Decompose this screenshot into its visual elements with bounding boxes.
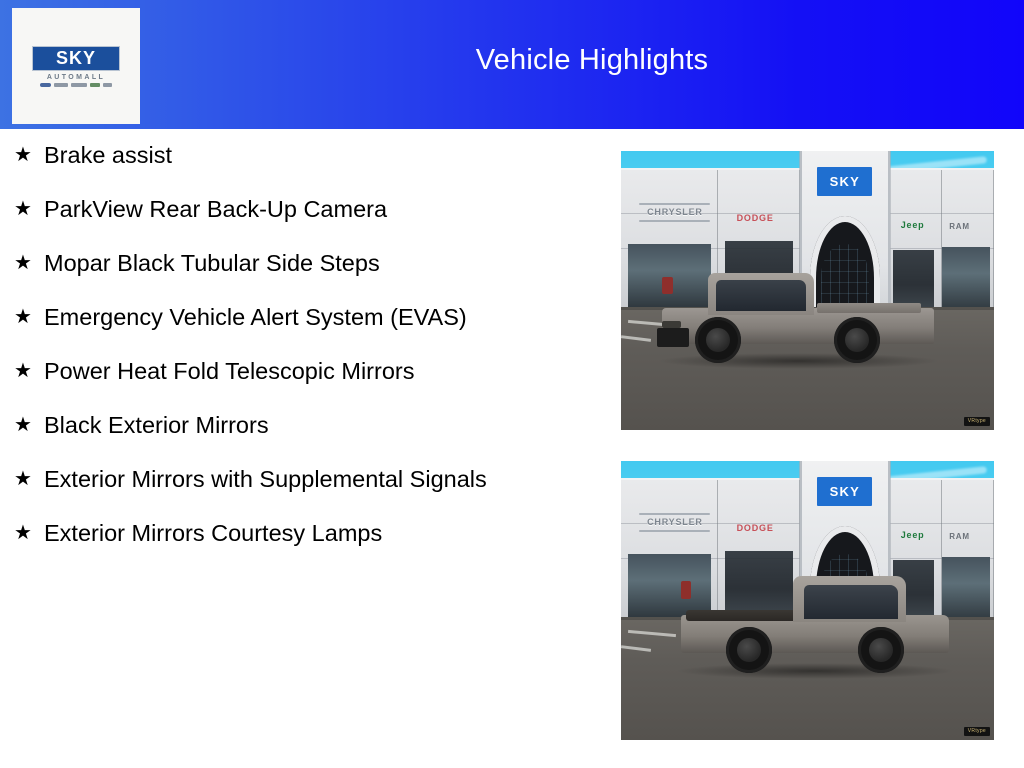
dodge-sign: DODGE <box>737 524 774 533</box>
automall-tagline: AUTOMALL <box>47 74 105 81</box>
photo-watermark: VRtype <box>964 727 990 736</box>
vehicle-photo-rear-quarter[interactable]: CHRYSLER DODGE Jeep RAM SKY <box>621 461 994 740</box>
feature-label: Black Exterior Mirrors <box>44 410 516 441</box>
vehicle-truck <box>681 581 950 673</box>
truck-headlight <box>662 321 681 329</box>
lot-line <box>621 335 651 342</box>
vehicle-shadow <box>657 353 940 369</box>
sky-dealership-sign-text: SKY <box>830 175 860 188</box>
truck-front-bumper <box>657 328 690 347</box>
vehicle-photo-side[interactable]: CHRYSLER DODGE Jeep RAM SKY <box>621 151 994 430</box>
sky-logo-mark: SKY <box>32 46 120 71</box>
star-icon: ★ <box>14 194 44 225</box>
page-title: Vehicle Highlights <box>160 0 1024 129</box>
sky-logo-text: SKY <box>56 49 96 67</box>
feature-label: Mopar Black Tubular Side Steps <box>44 248 516 279</box>
feature-label: Exterior Mirrors Courtesy Lamps <box>44 518 516 549</box>
feature-label: Power Heat Fold Telescopic Mirrors <box>44 356 516 387</box>
truck-rear-wheel <box>834 317 880 363</box>
brand-strip-icon <box>40 83 112 87</box>
sky-dealership-sign-text: SKY <box>830 485 860 498</box>
star-icon: ★ <box>14 410 44 441</box>
feature-label: ParkView Rear Back-Up Camera <box>44 194 516 225</box>
truck-front-wheel <box>858 627 904 673</box>
list-item: ★ Brake assist <box>0 140 600 171</box>
truck-front-wheel <box>695 317 741 363</box>
dodge-sign: DODGE <box>737 214 774 223</box>
lot-line <box>628 630 677 637</box>
features-list: ★ Brake assist ★ ParkView Rear Back-Up C… <box>0 140 600 572</box>
slide-header: SKY AUTOMALL Vehicle Highlights <box>0 0 1024 129</box>
sky-dealership-sign: SKY <box>817 167 872 196</box>
star-icon: ★ <box>14 302 44 333</box>
list-item: ★ Exterior Mirrors with Supplemental Sig… <box>0 464 600 495</box>
feature-label: Exterior Mirrors with Supplemental Signa… <box>44 464 516 495</box>
dealership-scene: CHRYSLER DODGE Jeep RAM SKY <box>621 461 994 740</box>
list-item: ★ Emergency Vehicle Alert System (EVAS) <box>0 302 600 333</box>
truck-taillight <box>662 277 673 294</box>
vehicle-shadow <box>675 663 954 679</box>
photo-watermark: VRtype <box>964 417 990 426</box>
list-item: ★ ParkView Rear Back-Up Camera <box>0 194 600 225</box>
dealer-logo[interactable]: SKY AUTOMALL <box>12 8 140 124</box>
ram-sign: RAM <box>949 223 970 231</box>
truck-windows <box>804 585 898 619</box>
list-item: ★ Black Exterior Mirrors <box>0 410 600 441</box>
star-icon: ★ <box>14 356 44 387</box>
jeep-sign: Jeep <box>901 221 925 230</box>
dealership-scene: CHRYSLER DODGE Jeep RAM SKY <box>621 151 994 430</box>
truck-rear-wheel <box>726 627 772 673</box>
vehicle-highlights-slide: SKY AUTOMALL Vehicle Highlights ★ Brake … <box>0 0 1024 768</box>
star-icon: ★ <box>14 140 44 171</box>
chrysler-sign: CHRYSLER <box>647 518 703 527</box>
list-item: ★ Mopar Black Tubular Side Steps <box>0 248 600 279</box>
star-icon: ★ <box>14 464 44 495</box>
list-item: ★ Exterior Mirrors Courtesy Lamps <box>0 518 600 549</box>
star-icon: ★ <box>14 248 44 279</box>
truck-taillight <box>681 581 692 599</box>
jeep-sign: Jeep <box>901 531 925 540</box>
sky-dealership-sign: SKY <box>817 477 872 506</box>
feature-label: Emergency Vehicle Alert System (EVAS) <box>44 302 516 333</box>
ram-sign: RAM <box>949 533 970 541</box>
chrysler-sign: CHRYSLER <box>647 208 703 217</box>
dealer-logo-inner: SKY AUTOMALL <box>28 46 124 87</box>
lot-line <box>621 645 651 652</box>
truck-windows <box>716 280 806 311</box>
list-item: ★ Power Heat Fold Telescopic Mirrors <box>0 356 600 387</box>
star-icon: ★ <box>14 518 44 549</box>
truck-bed <box>686 610 796 620</box>
vehicle-truck <box>662 277 934 363</box>
feature-label: Brake assist <box>44 140 516 171</box>
truck-bed <box>817 303 920 313</box>
